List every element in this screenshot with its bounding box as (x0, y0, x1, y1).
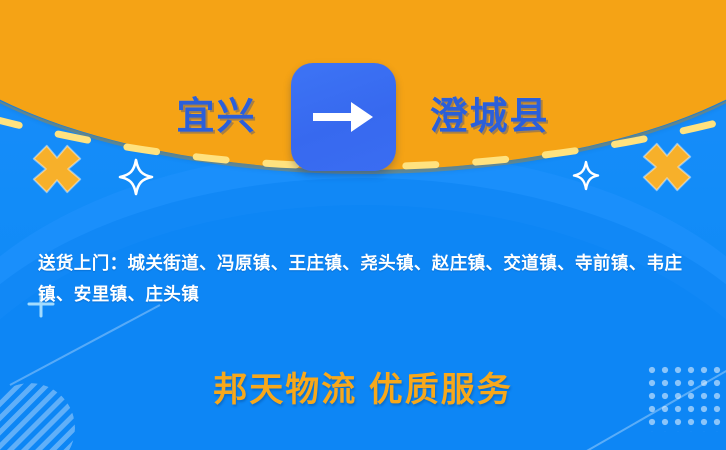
destination-city-label: 澄城县 (430, 98, 550, 136)
arrow-right-icon (311, 96, 375, 138)
route-arrow-box (291, 63, 396, 171)
company-slogan: 邦天物流 优质服务 (0, 362, 726, 411)
delivery-coverage-text: 送货上门：城关街道、冯原镇、王庄镇、尧头镇、赵庄镇、交道镇、寺前镇、韦庄镇、安里… (38, 248, 714, 310)
origin-city-label: 宜兴 (176, 98, 256, 136)
logistics-route-banner: 宜兴 澄城县 送货上门：城关街道、冯原镇、王庄镇、尧头镇、赵庄镇、交道镇、寺前镇… (0, 0, 726, 450)
route-header: 宜兴 澄城县 (0, 62, 726, 172)
